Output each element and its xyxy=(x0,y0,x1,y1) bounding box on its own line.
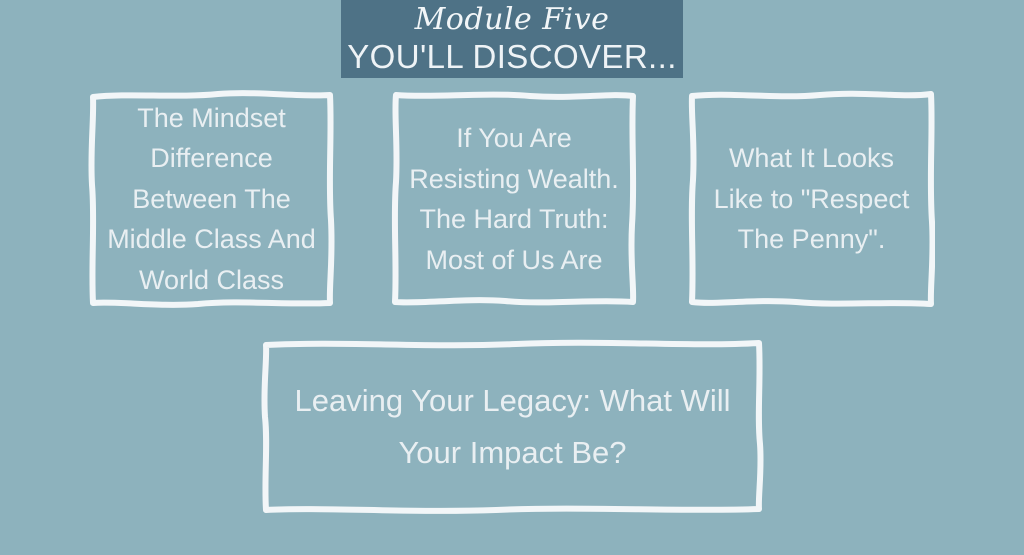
topic-card-2-label: If You Are Resisting Wealth. The Hard Tr… xyxy=(390,118,638,280)
header-band: Module Five YOU'LL DISCOVER... xyxy=(341,0,683,78)
topic-card-4-label: Leaving Your Legacy: What Will Your Impa… xyxy=(261,375,764,479)
module-script-title: Module Five xyxy=(341,0,683,40)
page-title: YOU'LL DISCOVER... xyxy=(341,37,683,76)
topic-card-4: Leaving Your Legacy: What Will Your Impa… xyxy=(261,339,764,514)
slide-canvas: Module Five YOU'LL DISCOVER... The Minds… xyxy=(0,0,1024,555)
topic-card-3-label: What It Looks Like to "Respect The Penny… xyxy=(688,138,935,260)
topic-card-3: What It Looks Like to "Respect The Penny… xyxy=(688,90,935,308)
topic-card-2: If You Are Resisting Wealth. The Hard Tr… xyxy=(390,90,638,308)
topic-card-1: The Mindset Difference Between The Middl… xyxy=(88,90,335,308)
topic-card-1-label: The Mindset Difference Between The Middl… xyxy=(88,98,335,301)
